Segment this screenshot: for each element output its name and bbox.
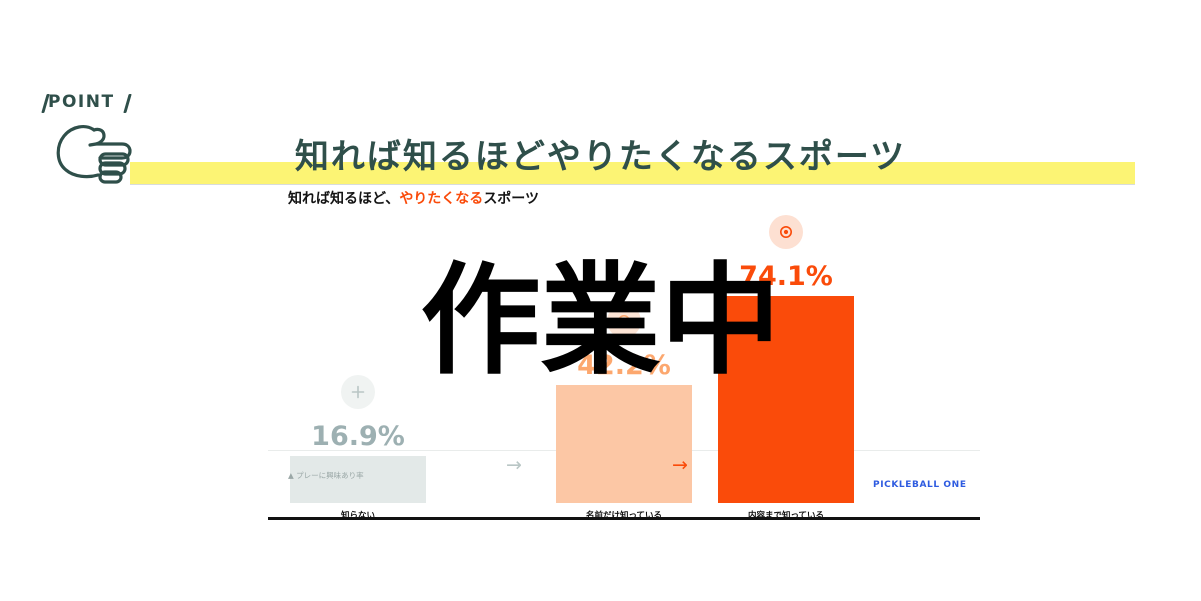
flow-arrow-2: → xyxy=(672,456,688,475)
bar-value-label: 16.9% xyxy=(311,421,405,452)
subtitle: 知れば知るほど、やりたくなるスポーツ xyxy=(288,188,539,208)
chart-baseline xyxy=(268,517,980,520)
subtitle-accent: やりたくなる xyxy=(399,191,483,207)
title-divider xyxy=(130,184,1135,185)
badge-label: POINT xyxy=(48,92,115,112)
badge-slash-right xyxy=(123,94,131,113)
page-title: 知れば知るほどやりたくなるスポーツ xyxy=(0,129,1201,178)
bar-value-label: 42.2% xyxy=(577,350,671,381)
bar-rect xyxy=(556,385,692,503)
subtitle-lead: 知れば知るほど、 xyxy=(288,191,399,207)
target-icon xyxy=(769,215,803,249)
target-icon xyxy=(607,304,641,338)
subtitle-tail: スポーツ xyxy=(483,191,539,207)
flow-arrow-1: → xyxy=(506,456,522,475)
bar-rect xyxy=(718,296,854,503)
axis-note: ▲ プレーに興味あり率 xyxy=(288,470,364,481)
plus-icon xyxy=(341,375,375,409)
bar-chart: 16.9% 知らない → 42.2% 名前だけ知っている → xyxy=(268,215,980,523)
bar-value-label: 74.1% xyxy=(739,261,833,292)
slide-canvas: POINT 知れば知るほどやりたくなるスポーツ 知れば知るほど、やりたくなるスポ… xyxy=(0,0,1201,601)
brand-logo: PICKLEBALL ONE xyxy=(873,480,967,490)
